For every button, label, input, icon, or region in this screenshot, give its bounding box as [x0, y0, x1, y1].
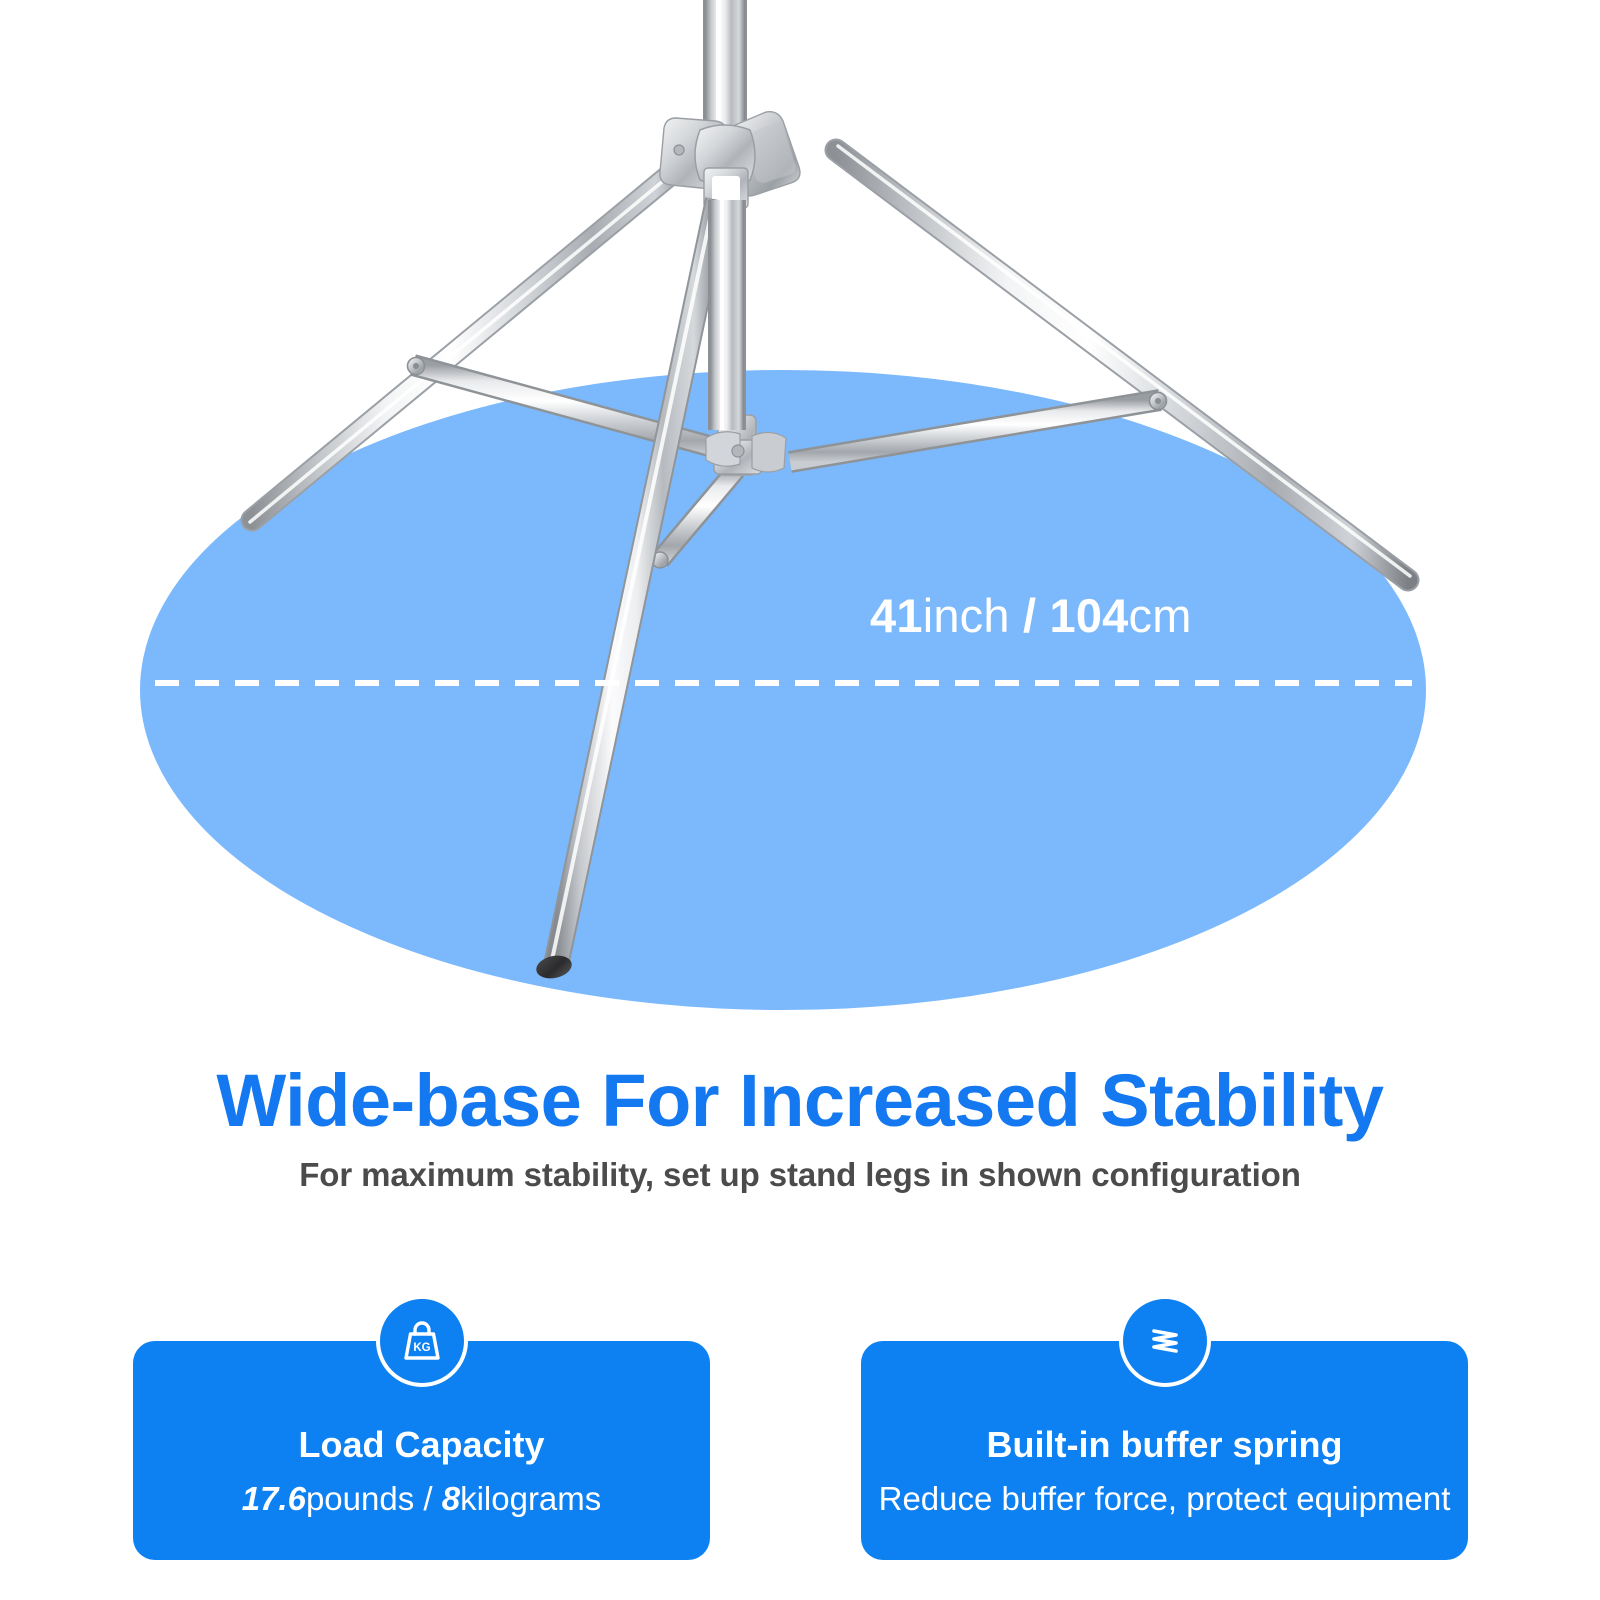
hero-illustration: 41inch / 104cm — [0, 0, 1600, 1045]
dimension-imperial-unit: inch — [923, 589, 1010, 642]
card-subtitle: 17.6pounds / 8kilograms — [133, 1481, 710, 1517]
infographic-page: 41inch / 104cm Wide-base For Increased S… — [0, 0, 1600, 1600]
buffer-spring-icon — [1119, 1295, 1211, 1387]
card-title: Load Capacity — [133, 1425, 710, 1465]
page-subtitle: For maximum stability, set up stand legs… — [0, 1156, 1600, 1194]
load-kilograms-value: 8 — [442, 1480, 460, 1517]
feature-card-load-capacity[interactable]: KG Load Capacity 17.6pounds / 8kilograms — [133, 1341, 710, 1560]
load-separator: / — [414, 1480, 442, 1517]
dimension-metric-value: 104 — [1050, 589, 1129, 642]
load-kilograms-unit: kilograms — [460, 1480, 601, 1517]
card-title: Built-in buffer spring — [861, 1425, 1468, 1465]
feature-cards: KG Load Capacity 17.6pounds / 8kilograms… — [0, 1341, 1600, 1583]
headline-block: Wide-base For Increased Stability For ma… — [0, 1062, 1600, 1194]
load-pounds-unit: pounds — [306, 1480, 414, 1517]
page-title: Wide-base For Increased Stability — [0, 1062, 1600, 1140]
svg-text:KG: KG — [413, 1342, 430, 1354]
card-subtitle: Reduce buffer force, protect equipment — [861, 1481, 1468, 1517]
center-pole-lower — [708, 200, 746, 430]
kg-weight-icon: KG — [376, 1295, 468, 1387]
dimension-imperial-value: 41 — [870, 589, 923, 642]
feature-card-buffer-spring[interactable]: Built-in buffer spring Reduce buffer for… — [861, 1341, 1468, 1560]
dimension-metric-unit: cm — [1129, 589, 1192, 642]
dimension-separator: / — [1010, 589, 1050, 642]
dimension-label: 41inch / 104cm — [870, 592, 1192, 639]
top-collar-hub — [660, 112, 800, 208]
load-pounds-value: 17.6 — [242, 1480, 306, 1517]
